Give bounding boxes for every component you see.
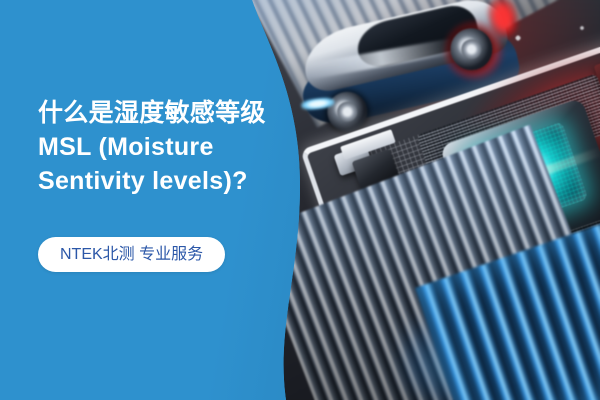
wheel-hub <box>336 100 359 123</box>
wheel-hub <box>459 37 483 61</box>
headline-line-1: 什么是湿度敏感等级 <box>38 96 288 130</box>
headline-line-2: MSL (Moisture <box>38 130 288 164</box>
headline-block: 什么是湿度敏感等级 MSL (Moisture Sentivity levels… <box>38 96 288 198</box>
headline-line-3: Sentivity levels)? <box>38 164 288 198</box>
banner: 什么是湿度敏感等级 MSL (Moisture Sentivity levels… <box>0 0 600 400</box>
cta-button[interactable]: NTEK北测 专业服务 <box>38 237 225 272</box>
blue-panel-gradient <box>0 0 312 400</box>
